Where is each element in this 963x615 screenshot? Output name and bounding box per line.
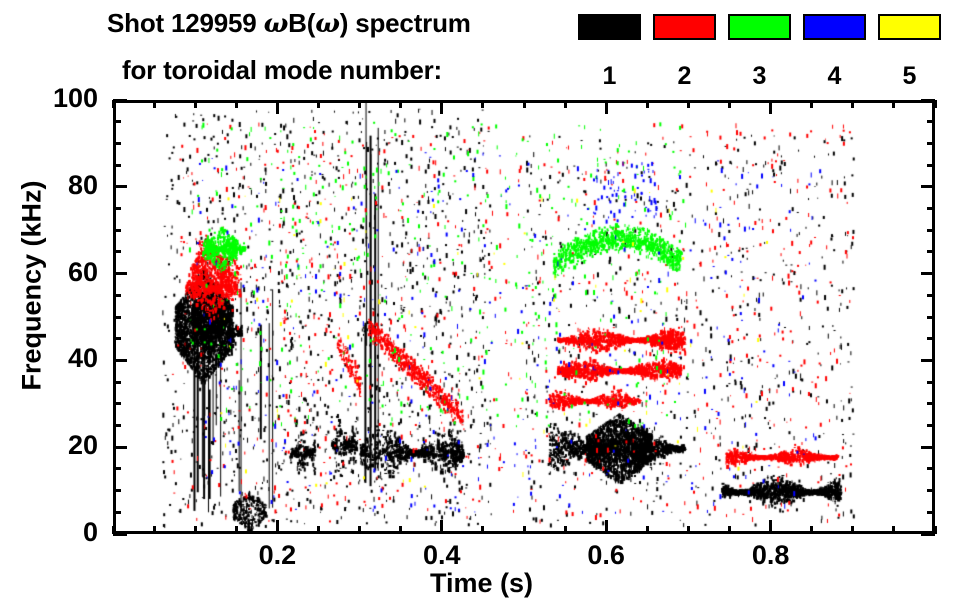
y-tick-label: 20 <box>18 430 98 461</box>
y-tick-minor-right <box>927 511 935 514</box>
legend-label-n3: 3 <box>728 62 791 91</box>
y-tick-major <box>113 99 127 102</box>
y-tick-minor-right <box>927 142 935 145</box>
y-tick-minor-right <box>927 250 935 253</box>
title-shot-text: Shot 129959 <box>107 8 264 38</box>
y-tick-major-right <box>921 359 935 362</box>
y-tick-minor <box>113 402 121 405</box>
omega-symbol-2: ω <box>315 9 340 39</box>
figure-title-line2: for toroidal mode number: <box>122 55 442 86</box>
spectrogram-figure: Shot 129959 ωB(ω) spectrum for toroidal … <box>0 0 963 615</box>
y-tick-minor <box>113 511 121 514</box>
y-tick-minor-right <box>927 381 935 384</box>
x-tick-major <box>605 520 608 534</box>
y-tick-label: 0 <box>18 517 98 548</box>
y-tick-label: 80 <box>18 170 98 201</box>
plot-area <box>113 100 935 534</box>
y-tick-major-right <box>921 185 935 188</box>
y-tick-major-right <box>921 99 935 102</box>
x-tick-major-top <box>440 100 443 114</box>
legend-swatch-n1 <box>578 14 641 40</box>
y-tick-minor <box>113 467 121 470</box>
mode-number-legend: 12345 <box>578 14 950 84</box>
x-tick-label: 0.8 <box>726 540 816 571</box>
y-tick-minor <box>113 207 121 210</box>
x-tick-minor <box>646 526 649 534</box>
y-tick-minor-right <box>927 316 935 319</box>
x-tick-minor-top <box>399 100 402 108</box>
y-tick-minor <box>113 424 121 427</box>
x-tick-minor-top <box>892 100 895 108</box>
x-tick-minor-top <box>564 100 567 108</box>
x-tick-minor <box>728 526 731 534</box>
y-tick-minor-right <box>927 467 935 470</box>
x-tick-label: 0.6 <box>561 540 651 571</box>
y-tick-minor-right <box>927 294 935 297</box>
x-tick-minor-top <box>153 100 156 108</box>
x-tick-label: 0.4 <box>397 540 487 571</box>
y-tick-label: 40 <box>18 343 98 374</box>
y-tick-major <box>113 272 127 275</box>
x-tick-major-top <box>276 100 279 114</box>
legend-label-n1: 1 <box>578 62 641 91</box>
legend-swatch-n2 <box>653 14 716 40</box>
y-tick-major <box>113 446 127 449</box>
x-tick-minor <box>399 526 402 534</box>
x-tick-minor <box>523 526 526 534</box>
y-tick-minor-right <box>927 424 935 427</box>
x-tick-major-top <box>769 100 772 114</box>
legend-swatch-n4 <box>803 14 866 40</box>
y-tick-major <box>113 533 127 536</box>
y-tick-minor <box>113 316 121 319</box>
x-tick-minor-top <box>851 100 854 108</box>
x-tick-minor <box>194 526 197 534</box>
y-tick-minor <box>113 489 121 492</box>
x-tick-major <box>276 520 279 534</box>
x-tick-minor <box>235 526 238 534</box>
x-tick-minor-top <box>646 100 649 108</box>
x-tick-minor <box>851 526 854 534</box>
y-tick-minor <box>113 381 121 384</box>
y-tick-minor <box>113 294 121 297</box>
y-tick-minor-right <box>927 207 935 210</box>
x-axis-title: Time (s) <box>0 568 963 599</box>
x-tick-minor-top <box>728 100 731 108</box>
y-tick-minor-right <box>927 402 935 405</box>
spectrogram-canvas <box>113 100 935 534</box>
y-tick-minor-right <box>927 120 935 123</box>
x-tick-label: 0.2 <box>232 540 322 571</box>
legend-swatch-n3 <box>728 14 791 40</box>
y-tick-major-right <box>921 533 935 536</box>
y-tick-label: 60 <box>18 257 98 288</box>
x-tick-minor <box>317 526 320 534</box>
x-tick-minor <box>892 526 895 534</box>
y-tick-major <box>113 359 127 362</box>
legend-label-n4: 4 <box>803 62 866 91</box>
x-tick-minor <box>810 526 813 534</box>
y-tick-minor <box>113 337 121 340</box>
y-tick-minor-right <box>927 337 935 340</box>
y-tick-minor-right <box>927 164 935 167</box>
x-tick-minor <box>687 526 690 534</box>
legend-label-n5: 5 <box>878 62 941 91</box>
x-tick-minor-top <box>523 100 526 108</box>
y-tick-minor <box>113 229 121 232</box>
x-tick-minor-top <box>358 100 361 108</box>
legend-label-n2: 2 <box>653 62 716 91</box>
x-tick-minor <box>153 526 156 534</box>
x-tick-minor-top <box>481 100 484 108</box>
y-tick-minor-right <box>927 489 935 492</box>
x-tick-minor-top <box>235 100 238 108</box>
figure-title-line1: Shot 129959 ωB(ω) spectrum <box>107 8 471 39</box>
title-spectrum-text: ) spectrum <box>340 8 471 38</box>
x-tick-minor-top <box>194 100 197 108</box>
y-tick-label: 100 <box>18 83 98 114</box>
x-tick-minor-top <box>317 100 320 108</box>
x-tick-minor-top <box>687 100 690 108</box>
omega-symbol-1: ω <box>264 9 289 39</box>
x-tick-minor <box>481 526 484 534</box>
y-tick-major-right <box>921 272 935 275</box>
y-tick-minor-right <box>927 229 935 232</box>
x-tick-minor-top <box>810 100 813 108</box>
y-tick-major <box>113 185 127 188</box>
title-b-text: B( <box>288 8 315 38</box>
x-tick-minor <box>358 526 361 534</box>
y-tick-minor <box>113 120 121 123</box>
y-tick-minor <box>113 142 121 145</box>
x-tick-major <box>440 520 443 534</box>
x-tick-minor <box>564 526 567 534</box>
y-tick-minor <box>113 250 121 253</box>
y-tick-major-right <box>921 446 935 449</box>
y-tick-minor <box>113 164 121 167</box>
x-tick-major-top <box>605 100 608 114</box>
legend-swatch-n5 <box>878 14 941 40</box>
x-tick-major <box>769 520 772 534</box>
